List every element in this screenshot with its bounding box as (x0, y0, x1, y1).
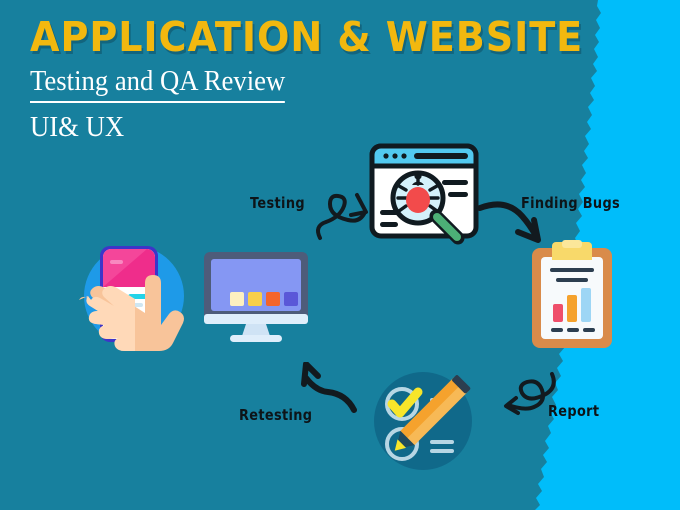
checklist-pencil-icon (364, 362, 482, 480)
page-subtitle-secondary: UI& UX (30, 110, 577, 144)
poster-canvas: APPLICATION & WEBSITE Testing and QA Rev… (0, 0, 680, 510)
page-subtitle: Testing and QA Review (30, 64, 285, 103)
desktop-monitor-icon (194, 248, 318, 344)
header-block: APPLICATION & WEBSITE Testing and QA Rev… (30, 14, 625, 144)
arrow-testing-to-bugs (312, 186, 374, 242)
page-title: APPLICATION & WEBSITE (30, 14, 583, 60)
cycle-label-report: Report (548, 402, 599, 420)
browser-bug-search-icon (366, 140, 484, 250)
clipboard-chart-icon (528, 240, 616, 352)
cycle-label-finding-bugs: Finding Bugs (521, 194, 620, 212)
hand-phone-icon (72, 234, 196, 358)
cycle-label-testing: Testing (250, 194, 305, 212)
cycle-label-retesting: Retesting (239, 406, 312, 424)
